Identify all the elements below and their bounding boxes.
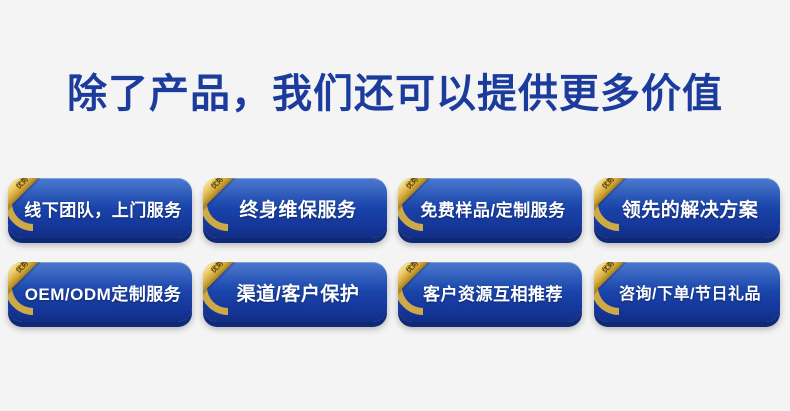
- page-title: 除了产品，我们还可以提供更多价值: [0, 70, 790, 118]
- feature-button-label: 终身维保服务: [203, 178, 387, 238]
- feature-button-customer-referral[interactable]: 优势 客户资源互相推荐: [398, 262, 582, 322]
- feature-row: 优势 线下团队，上门服务 优势 终身维保服务 优势 免费样品/定制服务: [0, 172, 790, 256]
- feature-button-channel-protection[interactable]: 优势 渠道/客户保护: [203, 262, 387, 322]
- feature-button-label: 免费样品/定制服务: [398, 178, 582, 238]
- feature-button-consult-order-gift[interactable]: 优势 咨询/下单/节日礼品: [594, 262, 780, 322]
- feature-row: 优势 OEM/ODM定制服务 优势 渠道/客户保护 优势 客户资源互相推荐: [0, 256, 790, 340]
- feature-button-label: 咨询/下单/节日礼品: [594, 262, 780, 322]
- feature-button-oem-odm[interactable]: 优势 OEM/ODM定制服务: [8, 262, 192, 322]
- feature-button-label: 领先的解决方案: [594, 178, 780, 238]
- feature-button-label: OEM/ODM定制服务: [8, 262, 192, 322]
- feature-button-label: 线下团队，上门服务: [8, 178, 192, 238]
- promo-banner: 除了产品，我们还可以提供更多价值 优势 线下团队，上门服务 优势 终身维保服务: [0, 0, 790, 411]
- feature-button-grid: 优势 线下团队，上门服务 优势 终身维保服务 优势 免费样品/定制服务: [0, 172, 790, 340]
- feature-button-lifetime-maintenance[interactable]: 优势 终身维保服务: [203, 178, 387, 238]
- feature-button-label: 渠道/客户保护: [203, 262, 387, 322]
- feature-button-free-sample[interactable]: 优势 免费样品/定制服务: [398, 178, 582, 238]
- feature-button-label: 客户资源互相推荐: [398, 262, 582, 322]
- feature-button-leading-solution[interactable]: 优势 领先的解决方案: [594, 178, 780, 238]
- feature-button-offline-team[interactable]: 优势 线下团队，上门服务: [8, 178, 192, 238]
